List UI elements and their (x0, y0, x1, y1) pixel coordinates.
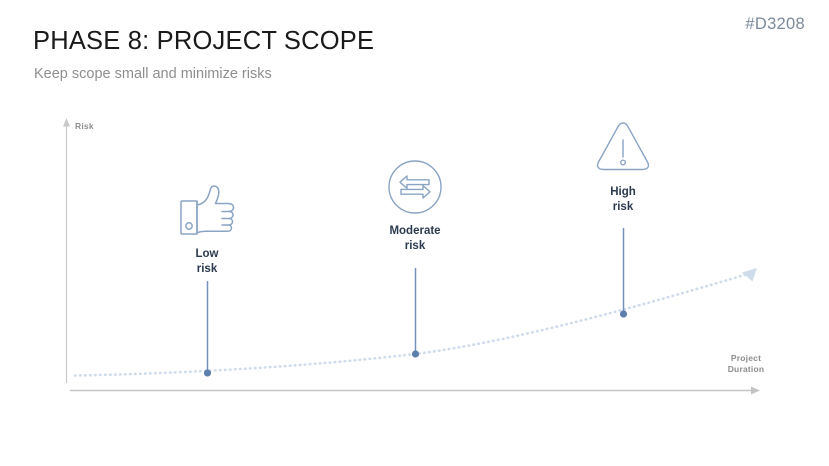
milestone-moderate-risk: Moderate risk (340, 159, 490, 253)
thumbs-up-icon (132, 184, 282, 238)
warning-triangle-icon (548, 119, 698, 176)
trend-dotted-path (75, 274, 748, 376)
slide-canvas: PHASE 8: PROJECT SCOPE Keep scope small … (0, 0, 829, 466)
milestone-high-risk-label: High risk (548, 185, 698, 214)
milestone-low-risk-label: Low risk (132, 247, 282, 276)
y-axis-label: Risk (75, 121, 94, 131)
milestone-low-risk: Low risk (132, 184, 282, 276)
data-point-low (204, 369, 211, 376)
x-axis (70, 387, 760, 395)
y-axis-arrowhead (63, 118, 70, 127)
x-axis-arrowhead (751, 387, 760, 395)
y-axis (63, 118, 70, 383)
x-axis-label: Project Duration (718, 353, 774, 374)
data-point-moderate (412, 350, 419, 357)
milestone-high-risk: High risk (548, 119, 698, 214)
data-point-high (620, 310, 627, 317)
milestone-moderate-risk-label: Moderate risk (340, 224, 490, 253)
two-way-arrows-circle-icon (340, 159, 490, 215)
